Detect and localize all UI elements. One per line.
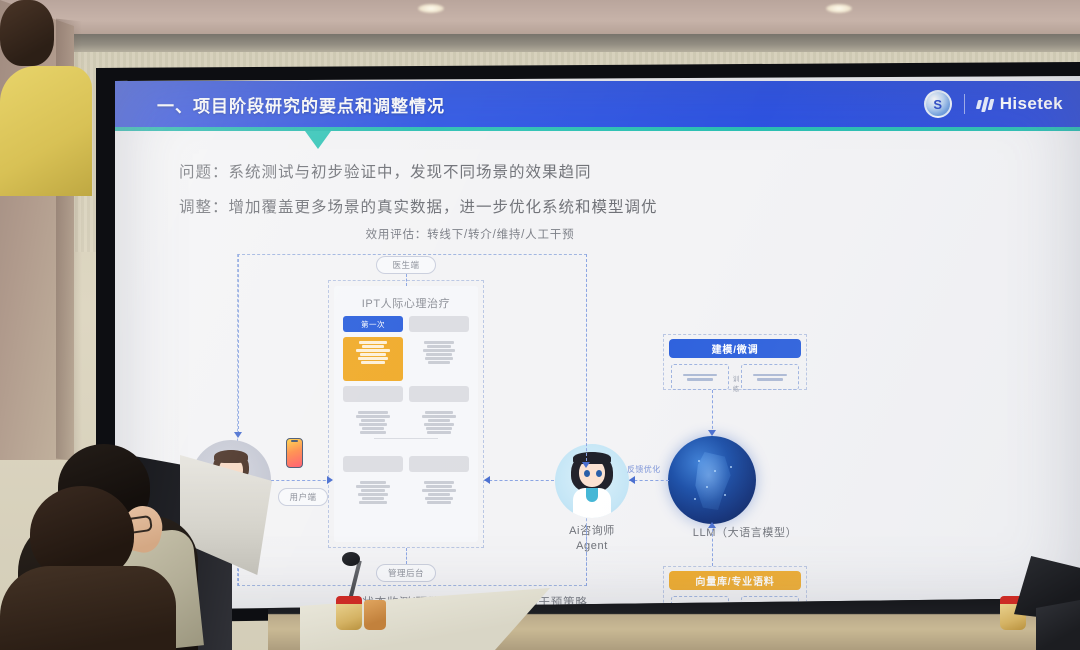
session-body <box>409 477 469 521</box>
page-title: 一、项目阶段研究的要点和调整情况 <box>157 92 445 117</box>
session-header[interactable] <box>409 456 469 472</box>
label-ai-counselor-line1: Ai咨询师 <box>569 525 615 537</box>
connector-doctor <box>406 274 407 286</box>
header-underline <box>115 127 1080 131</box>
pill-doctor-portal[interactable]: 医生端 <box>376 256 436 274</box>
connector-admin <box>406 548 407 564</box>
session-header[interactable] <box>409 316 469 332</box>
session-body <box>343 407 403 451</box>
bullet-problem: 问题：系统测试与初步验证中，发现不同场景的效果趋同 <box>179 160 658 182</box>
pill-admin-console[interactable]: 管理后台 <box>376 564 436 582</box>
avatar-client <box>191 440 271 520</box>
mobile-phone-icon <box>286 438 303 468</box>
slide-surface: 一、项目阶段研究的要点和调整情况 S Hisetek 问题：系统测试与初步验证中… <box>115 76 1080 610</box>
circular-seal-icon: S <box>924 90 952 118</box>
session-body <box>343 477 403 521</box>
session-header-first[interactable]: 第一次 <box>343 316 403 332</box>
model-sub-left[interactable] <box>671 364 729 390</box>
model-sub-right[interactable] <box>741 364 799 390</box>
ceiling-light <box>418 4 444 13</box>
connector-vertical <box>712 390 713 434</box>
arrow-down-icon <box>708 430 716 436</box>
brand-mark: Hisetek <box>977 94 1063 114</box>
bullet-list: 问题：系统测试与初步验证中，发现不同场景的效果趋同 调整：增加覆盖更多场景的真实… <box>179 160 658 230</box>
session-body <box>409 337 469 381</box>
connector-vertical <box>238 254 239 434</box>
arrow-left-icon <box>629 476 635 484</box>
architecture-diagram: 效用评估：转线下/转介/维持/人工干预 状态监测/预警：评估治疗效果和干预策略 … <box>115 226 1080 610</box>
hisetek-logo-icon <box>977 97 993 112</box>
session-header[interactable] <box>409 386 469 402</box>
arrow-up-icon <box>708 522 716 528</box>
ceiling-light <box>826 4 852 13</box>
divider <box>374 438 438 439</box>
connector-vertical <box>712 524 713 566</box>
arrow-left-icon <box>484 476 490 484</box>
connector-label-feedback: 反馈优化 <box>627 464 661 475</box>
brand-lockup: S Hisetek <box>924 90 1063 118</box>
presentation-screen: 一、项目阶段研究的要点和调整情况 S Hisetek 问题：系统测试与初步验证中… <box>115 76 1080 610</box>
bullet-adjustment: 调整：增加覆盖更多场景的真实数据，进一步优化系统和模型调优 <box>179 195 658 217</box>
label-ai-counselor-line2: Agent <box>576 540 608 552</box>
label-client: 来访者 <box>181 526 281 541</box>
arrow-down-icon <box>234 432 242 438</box>
connector-vertical <box>586 254 587 466</box>
session-body <box>409 407 469 451</box>
ipt-therapy-card: IPT人际心理治疗 第一次 <box>334 286 478 542</box>
header-caret-icon <box>305 131 331 149</box>
arrow-right-icon <box>327 476 333 484</box>
diagram-top-label: 效用评估：转线下/转介/维持/人工干预 <box>305 226 635 242</box>
brand-name: Hisetek <box>1000 94 1063 114</box>
session-header[interactable] <box>343 456 403 472</box>
ipt-card-title: IPT人际心理治疗 <box>334 286 478 311</box>
vector-box-title[interactable]: 向量库/专业语料 <box>669 571 801 590</box>
arrow-down-icon <box>582 462 590 468</box>
divider <box>964 94 965 114</box>
label-llm: LLM（大语言模型） <box>645 526 845 541</box>
connector-vertical <box>238 520 239 586</box>
pill-client-portal[interactable]: 用户端 <box>278 488 328 506</box>
connector-horizontal <box>271 480 331 481</box>
slide-header-bar: 一、项目阶段研究的要点和调整情况 S Hisetek <box>115 81 1080 127</box>
connector-horizontal <box>484 480 554 481</box>
ipt-session-grid: 第一次 <box>343 316 469 521</box>
avatar-ai-counselor <box>555 444 629 518</box>
session-body-first <box>343 337 403 381</box>
connector-vertical <box>586 526 587 586</box>
ceiling <box>0 0 1080 34</box>
label-ai-counselor: Ai咨询师 Agent <box>542 524 642 554</box>
model-box-title[interactable]: 建模/微调 <box>669 339 801 358</box>
session-header[interactable] <box>343 386 403 402</box>
connector-agent-llm <box>629 480 669 481</box>
llm-sphere-icon <box>668 436 756 524</box>
wall-left-edge-shadow <box>56 19 82 462</box>
